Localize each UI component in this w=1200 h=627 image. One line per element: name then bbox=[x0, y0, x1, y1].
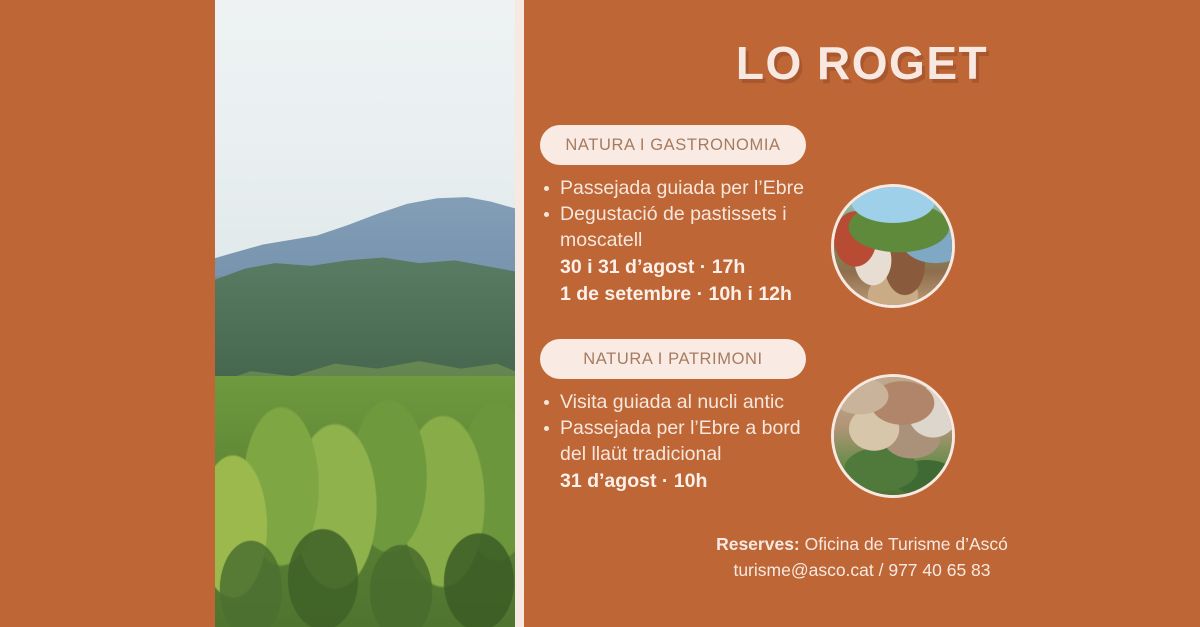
poster-root: LO ROGET NATURA I GASTRONOMIA Passejada … bbox=[0, 0, 1200, 627]
page-title: LO ROGET bbox=[524, 36, 1200, 90]
boat-trip-photo bbox=[831, 184, 955, 308]
date-line: 31 d’agost · 10h bbox=[536, 468, 836, 495]
badge-label: NATURA I GASTRONOMIA bbox=[565, 136, 780, 155]
reserves-label: Reserves: bbox=[716, 534, 800, 554]
badge-natura-i-patrimoni: NATURA I PATRIMONI bbox=[540, 339, 806, 379]
landscape-photo bbox=[215, 0, 515, 627]
list-item: Visita guiada al nucli antic bbox=[536, 390, 836, 415]
list-item-continuation: del llaüt tradicional bbox=[536, 442, 836, 467]
patrimoni-list: Visita guiada al nucli antic Passejada p… bbox=[536, 390, 836, 495]
list-item-continuation: moscatell bbox=[536, 228, 836, 253]
old-town-image bbox=[834, 377, 952, 495]
footer-contact: Reserves: Oficina de Turisme d’Ascó turi… bbox=[524, 531, 1200, 583]
list-item: Passejada guiada per l’Ebre bbox=[536, 176, 836, 201]
contact-line: turisme@asco.cat / 977 40 65 83 bbox=[524, 557, 1200, 583]
date-line: 1 de setembre · 10h i 12h bbox=[536, 281, 836, 308]
badge-label: NATURA I PATRIMONI bbox=[583, 350, 762, 369]
old-town-photo bbox=[831, 374, 955, 498]
badge-natura-i-gastronomia: NATURA I GASTRONOMIA bbox=[540, 125, 806, 165]
date-line: 30 i 31 d’agost · 17h bbox=[536, 254, 836, 281]
list-item: Degustació de pastissets i bbox=[536, 202, 836, 227]
list-item: Passejada per l’Ebre a bord bbox=[536, 416, 836, 441]
dark-trees bbox=[215, 502, 515, 627]
photo-divider-stripe bbox=[515, 0, 524, 627]
gastronomia-list: Passejada guiada per l’Ebre Degustació d… bbox=[536, 176, 836, 308]
landscape-image bbox=[215, 0, 515, 627]
tourism-office: Oficina de Turisme d’Ascó bbox=[805, 534, 1008, 554]
content-panel: LO ROGET NATURA I GASTRONOMIA Passejada … bbox=[524, 0, 1200, 627]
boat-trip-image bbox=[834, 187, 952, 305]
footer-reserves-line: Reserves: Oficina de Turisme d’Ascó bbox=[524, 531, 1200, 557]
